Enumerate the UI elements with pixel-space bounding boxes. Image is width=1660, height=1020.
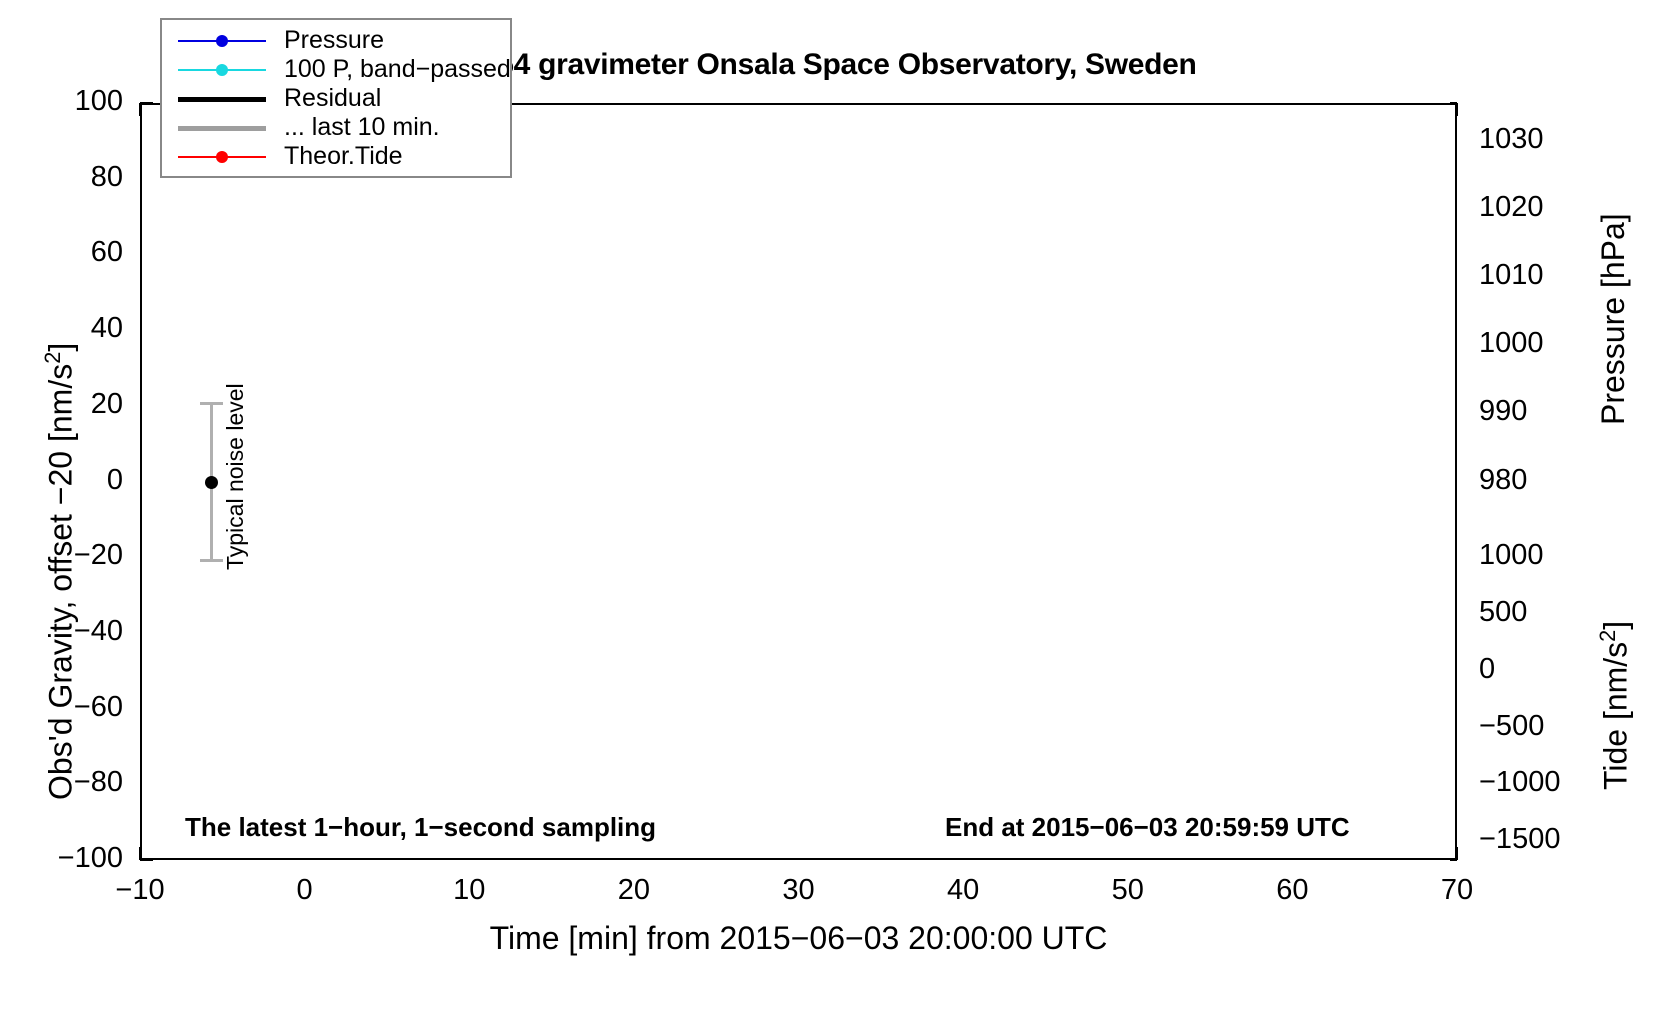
- y-tick-left-3: 40: [5, 312, 123, 345]
- y-axis-left-title-text: Obs'd Gravity, offset −20 [nm/s: [43, 364, 79, 800]
- y-tick-left-9: −80: [5, 766, 123, 799]
- legend-label: ... last 10 min.: [284, 113, 440, 142]
- y-tick-left-4: 20: [5, 388, 123, 421]
- plot-frame-border: [140, 103, 1457, 860]
- y-tick-pressure-0: 1030: [1479, 123, 1579, 156]
- y-tick-pressure-2: 1010: [1479, 259, 1579, 292]
- x-tick-5: 40: [913, 874, 1013, 907]
- y-tick-pressure-3: 1000: [1479, 327, 1579, 360]
- y-axis-left-title-sup: 2: [40, 352, 65, 364]
- x-tick-3: 20: [584, 874, 684, 907]
- y-tick-tide-0: 1000: [1479, 539, 1589, 572]
- x-tick-2: 10: [419, 874, 519, 907]
- y-tick-pressure-1: 1020: [1479, 191, 1579, 224]
- y-tick-tide-1: 500: [1479, 596, 1589, 629]
- legend-label: Pressure: [284, 26, 384, 55]
- y-tick-left-5: 0: [5, 464, 123, 497]
- y-axis-tide-title-sup: 2: [1595, 630, 1620, 642]
- legend-item-3[interactable]: ... last 10 min.: [162, 113, 510, 142]
- y-axis-pressure-title: Pressure [hPa]: [1595, 213, 1632, 425]
- legend-item-4[interactable]: Theor.Tide: [162, 142, 510, 171]
- y-tick-left-0: 100: [5, 85, 123, 118]
- noise-bar-cap-top: [200, 402, 223, 405]
- typical-noise-level-label: Typical noise level: [222, 383, 249, 570]
- y-tick-left-2: 60: [5, 236, 123, 269]
- legend-label: Theor.Tide: [284, 142, 403, 171]
- x-tick-1: 0: [255, 874, 355, 907]
- legend-dot-icon: [216, 151, 228, 163]
- legend-dot-icon: [216, 35, 228, 47]
- y-tick-pressure-4: 990: [1479, 395, 1579, 428]
- legend-swatch-icon: [172, 89, 272, 109]
- legend-dot-icon: [216, 64, 228, 76]
- y-tick-tide-5: −1500: [1479, 823, 1589, 856]
- legend-swatch-icon: [172, 147, 272, 167]
- noise-bar-cap-bottom: [200, 559, 223, 562]
- y-tick-tide-3: −500: [1479, 710, 1589, 743]
- legend-swatch-icon: [172, 60, 272, 80]
- x-axis-title: Time [min] from 2015−06−03 20:00:00 UTC: [140, 920, 1457, 957]
- legend-line-icon: [178, 97, 266, 102]
- y-tick-left-1: 80: [5, 161, 123, 194]
- legend-item-1[interactable]: 100 P, band−passed: [162, 55, 510, 84]
- y-axis-tide-title-tail: ]: [1598, 621, 1634, 630]
- y-axis-tide-title: Tide [nm/s2]: [1595, 621, 1635, 790]
- y-tick-tide-2: 0: [1479, 653, 1589, 686]
- legend-label: 100 P, band−passed: [284, 55, 511, 84]
- x-tick-4: 30: [749, 874, 849, 907]
- chart-legend: Pressure100 P, band−passedResidual... la…: [160, 18, 512, 178]
- y-tick-left-10: −100: [5, 842, 123, 875]
- end-time-note: End at 2015−06−03 20:59:59 UTC: [945, 812, 1350, 843]
- x-tick-6: 50: [1078, 874, 1178, 907]
- y-tick-left-8: −60: [5, 691, 123, 724]
- y-tick-left-6: −20: [5, 539, 123, 572]
- legend-label: Residual: [284, 84, 381, 113]
- noise-center-dot: [205, 476, 218, 489]
- x-tick-8: 70: [1407, 874, 1507, 907]
- x-tick-0: −10: [90, 874, 190, 907]
- y-tick-left-7: −40: [5, 615, 123, 648]
- chart-root: SCG_054 gravimeter Onsala Space Observat…: [0, 0, 1660, 1020]
- legend-line-icon: [178, 126, 266, 131]
- legend-swatch-icon: [172, 118, 272, 138]
- y-axis-tide-title-text: Tide [nm/s: [1598, 642, 1634, 790]
- y-tick-pressure-5: 980: [1479, 464, 1579, 497]
- legend-swatch-icon: [172, 31, 272, 51]
- sampling-note: The latest 1−hour, 1−second sampling: [185, 812, 656, 843]
- legend-item-2[interactable]: Residual: [162, 84, 510, 113]
- x-tick-7: 60: [1242, 874, 1342, 907]
- y-tick-tide-4: −1000: [1479, 766, 1589, 799]
- legend-item-0[interactable]: Pressure: [162, 26, 510, 55]
